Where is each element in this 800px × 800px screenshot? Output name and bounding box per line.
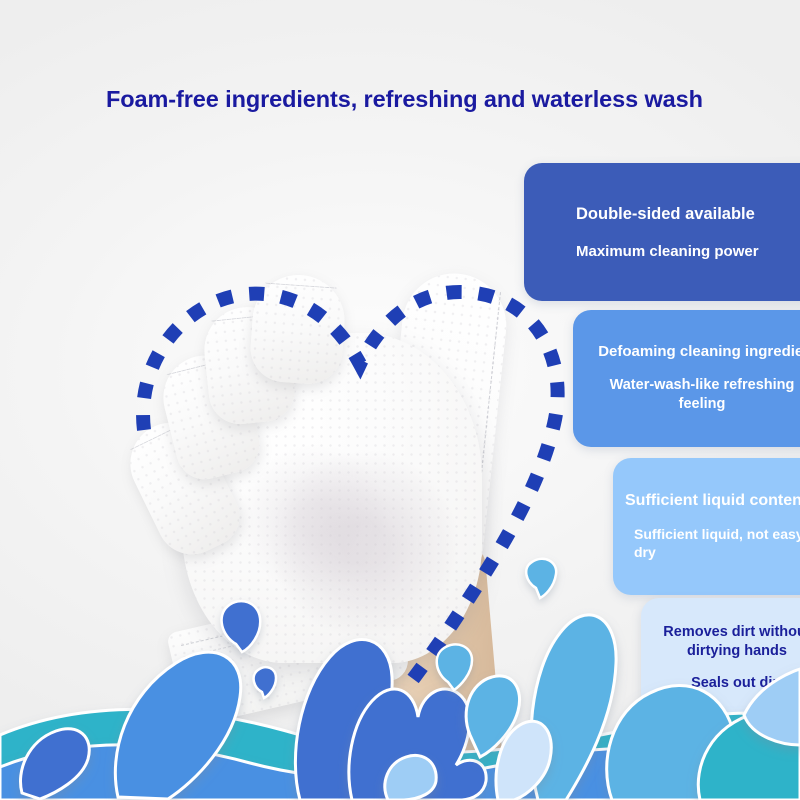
- callout-double-sided[interactable]: Double-sided available Maximum cleaning …: [524, 163, 800, 301]
- droplet: [254, 667, 276, 698]
- callout-defoaming[interactable]: Defoaming cleaning ingredients Water-was…: [573, 310, 800, 447]
- page-title: Foam-free ingredients, refreshing and wa…: [106, 84, 716, 115]
- droplet: [222, 601, 261, 652]
- poster-canvas: Foam-free ingredients, refreshing and wa…: [0, 0, 800, 800]
- callout-subtitle: Maximum cleaning power: [576, 243, 800, 260]
- callout-title: Defoaming cleaning ingredients: [591, 343, 800, 360]
- floating-droplets: [0, 560, 800, 740]
- callout-subtitle: Sufficient liquid, not easy to dry: [625, 525, 800, 561]
- droplet: [526, 559, 556, 598]
- callout-title: Sufficient liquid content: [625, 492, 800, 510]
- droplet: [437, 644, 472, 690]
- callout-title: Double-sided available: [576, 205, 800, 224]
- callout-subtitle: Water-wash-like refreshing feeling: [591, 376, 800, 414]
